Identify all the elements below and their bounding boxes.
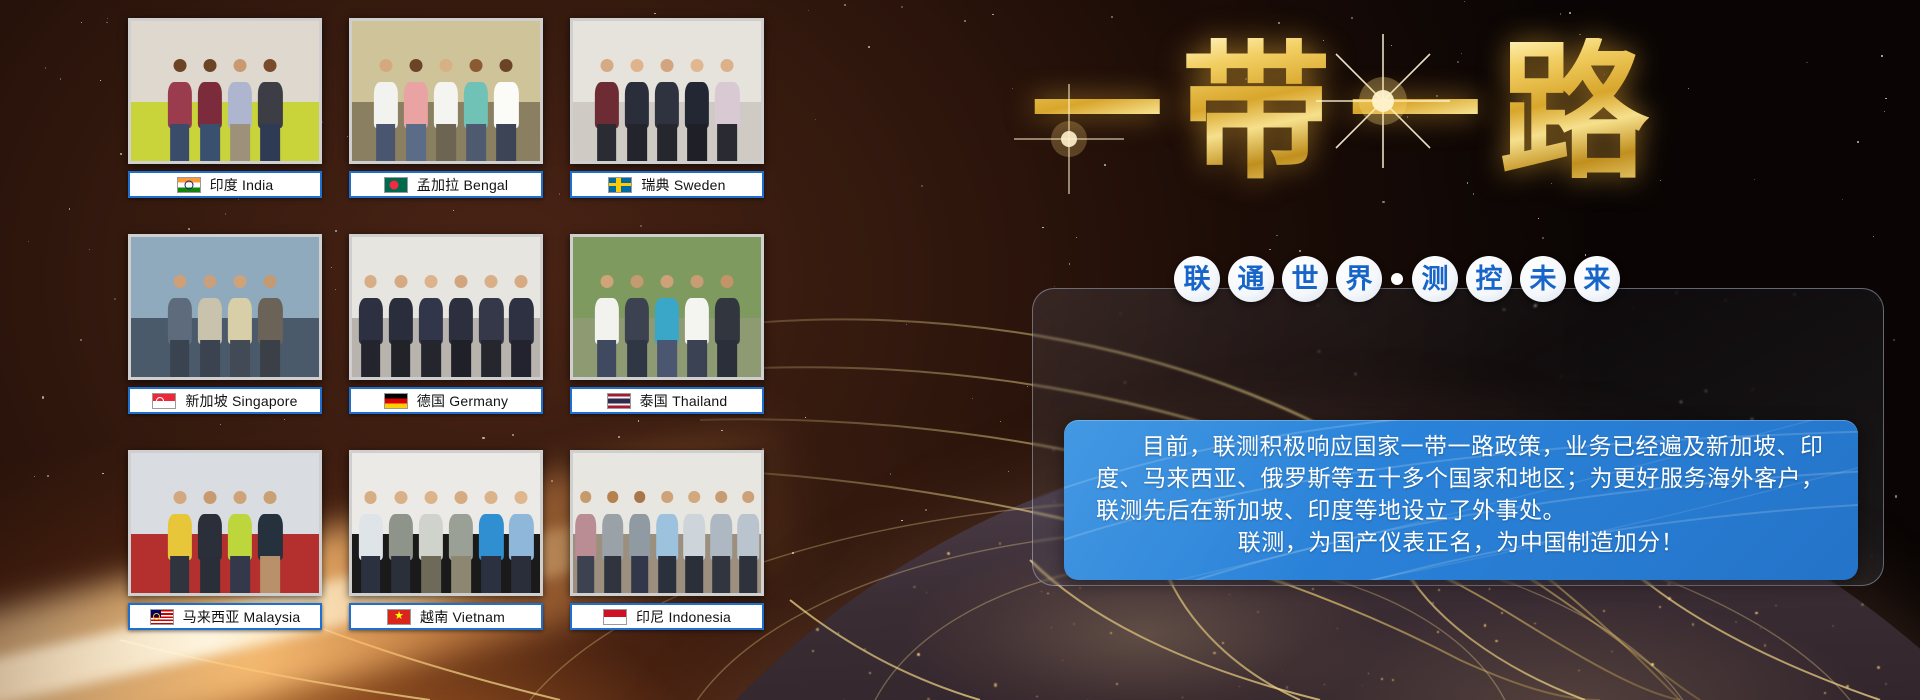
country-caption-germany[interactable]: 德国 Germany (349, 387, 543, 414)
photo-people-group (573, 489, 761, 593)
country-caption-label: 新加坡 Singapore (185, 391, 297, 411)
photo-person (492, 57, 520, 161)
photo-cell: 新加坡 Singapore (128, 234, 322, 438)
photo-person (573, 489, 598, 593)
photo-person (653, 57, 681, 161)
photo-cell: 瑞典 Sweden (570, 18, 764, 222)
photo-person (226, 57, 254, 161)
photo-person (166, 489, 194, 593)
photo-people-group (131, 489, 319, 593)
flag-indonesia-icon (603, 609, 627, 625)
photo-person (387, 489, 415, 593)
photo-person (196, 489, 224, 593)
photo-people-group (352, 489, 540, 593)
photo-person (356, 489, 384, 593)
country-caption-indonesia[interactable]: 印尼 Indonesia (570, 603, 764, 630)
country-caption-thailand[interactable]: 泰国 Thailand (570, 387, 764, 414)
photo-cell: 越南 Vietnam (349, 450, 543, 654)
photo-person (683, 273, 711, 377)
photo-person (593, 273, 621, 377)
photo-cell: 孟加拉 Bengal (349, 18, 543, 222)
banner-stage: 印度 India孟加拉 Bengal瑞典 Sweden新加坡 Singapore… (0, 0, 1920, 700)
photo-person (682, 489, 707, 593)
photo-person (417, 273, 445, 377)
slogan-char: 来 (1574, 256, 1620, 302)
country-caption-sweden[interactable]: 瑞典 Sweden (570, 171, 764, 198)
photo-person (623, 273, 651, 377)
photo-cell: 德国 Germany (349, 234, 543, 438)
photo-cell: 印度 India (128, 18, 322, 222)
photo-person (356, 273, 384, 377)
country-caption-label: 马来西亚 Malaysia (183, 607, 301, 627)
photo-people-group (352, 273, 540, 377)
slogan-char: 控 (1466, 256, 1512, 302)
photo-image (573, 237, 761, 377)
company-slogan: 联通世界测控未来 (1174, 256, 1620, 302)
photo-people-group (573, 57, 761, 161)
country-photo-thailand (570, 234, 764, 380)
flag-vietnam-icon (387, 609, 411, 625)
photo-image (131, 21, 319, 161)
flag-germany-icon (384, 393, 408, 409)
photo-person (166, 273, 194, 377)
photo-people-group (573, 273, 761, 377)
country-photo-germany (349, 234, 543, 380)
calligraphy-char-1: 一 (1031, 47, 1163, 179)
photo-person (736, 489, 761, 593)
photo-person (387, 273, 415, 377)
country-caption-label: 印度 India (210, 175, 274, 195)
photo-person (256, 273, 284, 377)
photo-person (653, 273, 681, 377)
country-photo-sweden (570, 18, 764, 164)
photo-person (600, 489, 625, 593)
slogan-char: 测 (1412, 256, 1458, 302)
photo-image (352, 453, 540, 593)
photo-person (593, 57, 621, 161)
flag-thailand-icon (607, 393, 631, 409)
country-caption-label: 德国 Germany (417, 391, 508, 411)
slogan-char: 界 (1336, 256, 1382, 302)
slogan-char: 通 (1228, 256, 1274, 302)
photo-person (432, 57, 460, 161)
country-caption-vietnam[interactable]: 越南 Vietnam (349, 603, 543, 630)
flag-bangladesh-icon (384, 177, 408, 193)
country-caption-label: 瑞典 Sweden (641, 175, 725, 195)
slogan-separator-dot (1391, 273, 1403, 285)
country-caption-bengal[interactable]: 孟加拉 Bengal (349, 171, 543, 198)
photo-person (372, 57, 400, 161)
country-photo-singapore (128, 234, 322, 380)
flag-sweden-icon (608, 177, 632, 193)
photo-cell: 印尼 Indonesia (570, 450, 764, 654)
photo-image (573, 453, 761, 593)
slogan-char: 未 (1520, 256, 1566, 302)
flag-india-icon (177, 177, 201, 193)
belt-and-road-calligraphy-title: 一 带 一 路 (1020, 8, 1660, 218)
photo-person (196, 273, 224, 377)
photo-people-group (131, 57, 319, 161)
photo-person (256, 57, 284, 161)
photo-person (709, 489, 734, 593)
photo-person (196, 57, 224, 161)
slogan-char: 联 (1174, 256, 1220, 302)
photo-person (713, 273, 741, 377)
country-photo-malaysia (128, 450, 322, 596)
photo-cell: 泰国 Thailand (570, 234, 764, 438)
country-caption-label: 泰国 Thailand (640, 391, 728, 411)
country-caption-india[interactable]: 印度 India (128, 171, 322, 198)
flag-malaysia-icon (150, 609, 174, 625)
photo-person (447, 273, 475, 377)
photo-people-group (352, 57, 540, 161)
about-paragraph-2: 联测，为国产仪表正名，为中国制造加分！ (1096, 527, 1826, 559)
calligraphy-char-3: 一 (1349, 47, 1481, 179)
country-caption-label: 越南 Vietnam (420, 607, 505, 627)
country-photo-india (128, 18, 322, 164)
country-photo-indonesia (570, 450, 764, 596)
about-text-card: 目前，联测积极响应国家一带一路政策，业务已经遍及新加坡、印度、马来西亚、俄罗斯等… (1064, 420, 1858, 580)
photo-person (507, 489, 535, 593)
photo-person (623, 57, 651, 161)
photo-image (573, 21, 761, 161)
photo-person (507, 273, 535, 377)
photo-image (352, 21, 540, 161)
photo-image (131, 453, 319, 593)
photo-person (417, 489, 445, 593)
country-caption-label: 印尼 Indonesia (636, 607, 731, 627)
photo-person (402, 57, 430, 161)
flag-singapore-icon (152, 393, 176, 409)
country-photo-bengal (349, 18, 543, 164)
photo-person (683, 57, 711, 161)
photo-person (654, 489, 679, 593)
photo-person (226, 273, 254, 377)
country-photo-grid: 印度 India孟加拉 Bengal瑞典 Sweden新加坡 Singapore… (128, 18, 768, 654)
photo-image (131, 237, 319, 377)
about-paragraph-1: 目前，联测积极响应国家一带一路政策，业务已经遍及新加坡、印度、马来西亚、俄罗斯等… (1096, 431, 1826, 527)
calligraphy-char-4: 路 (1499, 38, 1649, 188)
country-photo-vietnam (349, 450, 543, 596)
country-caption-label: 孟加拉 Bengal (417, 175, 508, 195)
photo-person (627, 489, 652, 593)
photo-person (166, 57, 194, 161)
country-caption-singapore[interactable]: 新加坡 Singapore (128, 387, 322, 414)
photo-people-group (131, 273, 319, 377)
photo-person (226, 489, 254, 593)
photo-person (447, 489, 475, 593)
country-caption-malaysia[interactable]: 马来西亚 Malaysia (128, 603, 322, 630)
photo-image (352, 237, 540, 377)
photo-cell: 马来西亚 Malaysia (128, 450, 322, 654)
photo-person (477, 489, 505, 593)
slogan-char: 世 (1282, 256, 1328, 302)
photo-person (462, 57, 490, 161)
photo-person (713, 57, 741, 161)
photo-person (477, 273, 505, 377)
calligraphy-char-2: 带 (1181, 38, 1331, 188)
photo-person (256, 489, 284, 593)
